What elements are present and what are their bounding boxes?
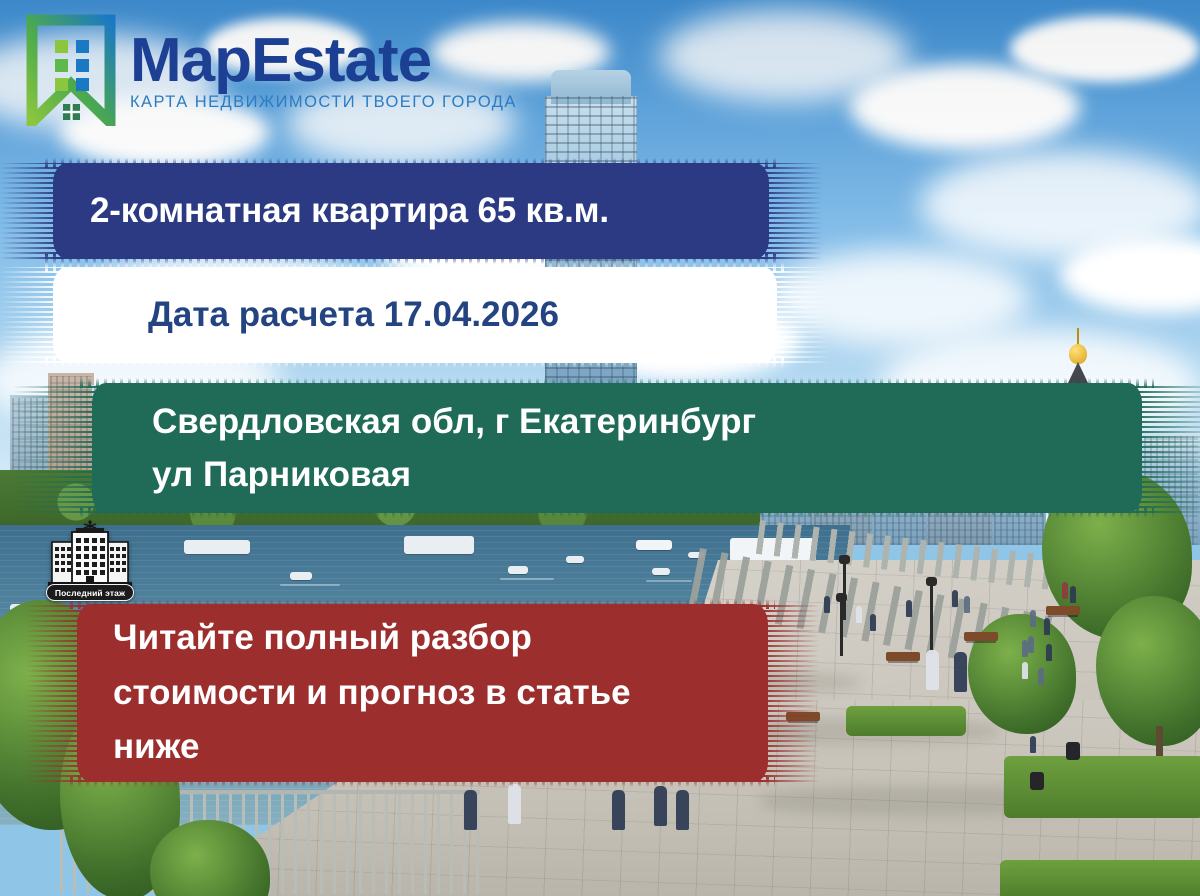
property-type-text: 2-комнатная квартира 65 кв.м. <box>30 191 792 231</box>
calc-date-banner: Дата расчета 17.04.2026 <box>30 267 800 363</box>
brand-name-part2: Estate <box>251 26 431 95</box>
brand-wordmark: MapEstate КАРТА НЕДВИЖИМОСТИ ТВОЕГО ГОРО… <box>130 28 517 112</box>
address-line-2: ул Парниковая <box>152 448 1176 501</box>
cta-line-3: ниже <box>113 720 766 775</box>
bookmark-building-icon <box>26 14 116 126</box>
address-text: Свердловская обл, г Екатеринбург ул Парн… <box>58 395 1176 501</box>
brand-logo[interactable]: MapEstate КАРТА НЕДВИЖИМОСТИ ТВОЕГО ГОРО… <box>26 14 517 126</box>
calc-date-text: Дата расчета 17.04.2026 <box>30 295 800 335</box>
brand-name-part1: Map <box>130 26 251 95</box>
brand-name: MapEstate <box>130 32 517 91</box>
brand-tagline: КАРТА НЕДВИЖИМОСТИ ТВОЕГО ГОРОДА <box>130 93 517 112</box>
building-pin-icon[interactable]: Последний этаж <box>46 520 136 608</box>
address-line-1: Свердловская обл, г Екатеринбург <box>152 395 1176 448</box>
promo-banner-page: MapEstate КАРТА НЕДВИЖИМОСТИ ТВОЕГО ГОРО… <box>0 0 1200 896</box>
cta-banner[interactable]: Читайте полный разбор стоимости и прогно… <box>55 604 790 782</box>
property-type-banner: 2-комнатная квартира 65 кв.м. <box>30 163 792 259</box>
cta-line-1: Читайте полный разбор <box>113 611 766 666</box>
cta-line-2: стоимости и прогноз в статье <box>113 666 766 721</box>
status-badge: Последний этаж <box>46 584 134 601</box>
address-banner: Свердловская обл, г Екатеринбург ул Парн… <box>58 383 1176 513</box>
cta-text: Читайте полный разбор стоимости и прогно… <box>55 611 790 775</box>
